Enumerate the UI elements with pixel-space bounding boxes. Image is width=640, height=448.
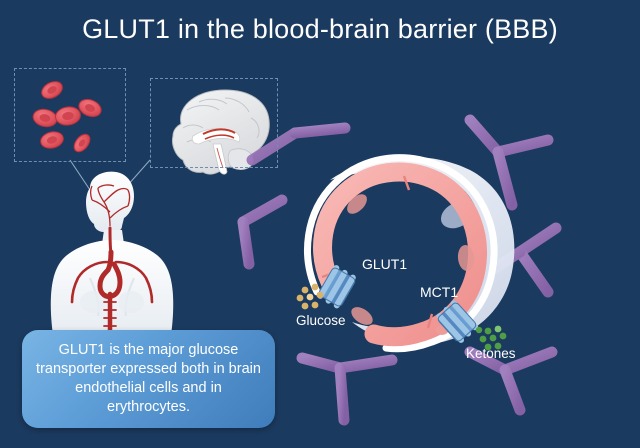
human-torso bbox=[51, 172, 173, 348]
ketones-label: Ketones bbox=[466, 346, 516, 361]
caption-box: GLUT1 is the major glucose transporter e… bbox=[22, 330, 275, 428]
brain-inset-box bbox=[150, 78, 278, 168]
mct1-label: MCT1 bbox=[420, 284, 458, 300]
glucose-label: Glucose bbox=[296, 313, 346, 328]
glut1-label: GLUT1 bbox=[362, 256, 407, 272]
diagram-canvas: GLUT1 in the blood-brain barrier (BBB) bbox=[0, 0, 640, 448]
erythrocytes-inset-box bbox=[14, 68, 126, 162]
caption-text: GLUT1 is the major glucose transporter e… bbox=[22, 341, 275, 418]
glucose-molecules bbox=[297, 284, 324, 310]
